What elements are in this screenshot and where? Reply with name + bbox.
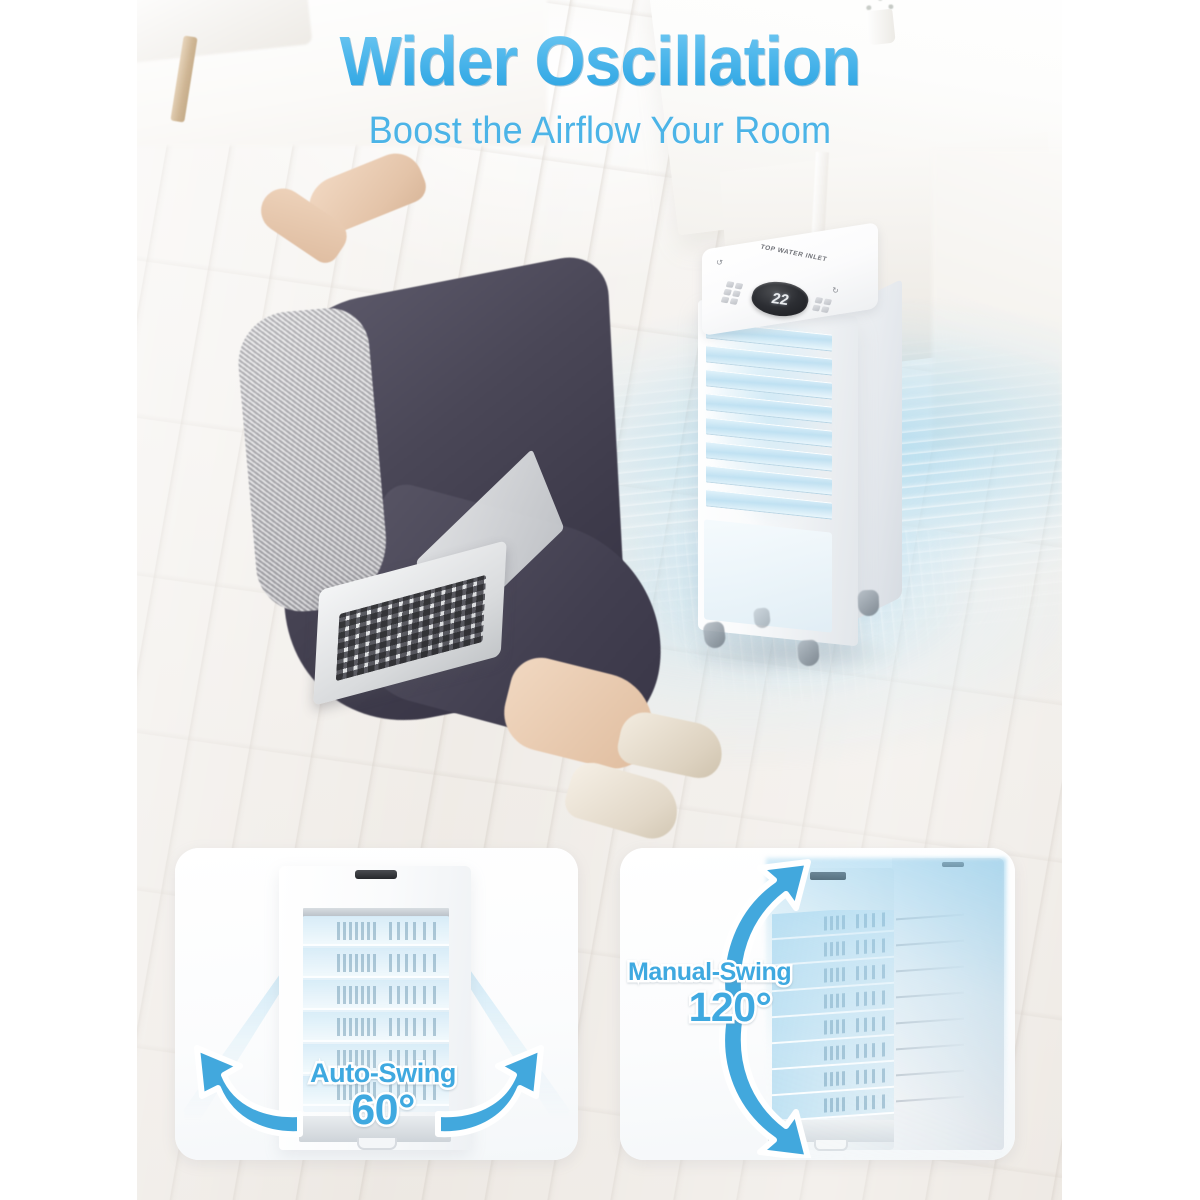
louver-row [303, 948, 449, 978]
callout-label: Manual-Swing [628, 960, 858, 986]
control-button[interactable] [723, 289, 732, 296]
callout-degrees: 120° [628, 987, 858, 1029]
control-button[interactable] [721, 296, 730, 303]
cooler-base-notch [357, 1138, 397, 1150]
wall-right [932, 150, 1062, 450]
page-subtitle: Boost the Airflow Your Room [30, 110, 1170, 153]
control-button[interactable] [814, 297, 823, 304]
page-title: Wider Oscillation [36, 26, 1164, 96]
louver-slat [706, 489, 832, 519]
cooler-base [768, 1120, 894, 1142]
caster-wheel [858, 590, 880, 617]
woman-reclining-with-laptop [137, 150, 689, 850]
cooler-base-notch [814, 1140, 848, 1151]
louver-row [303, 980, 449, 1010]
louver-row [303, 916, 449, 946]
side-panel-ticks [896, 910, 964, 1122]
callout-manual-swing: Manual-Swing 120° [628, 960, 858, 1028]
callout-degrees: 60° [248, 1089, 518, 1133]
callout-label: Auto-Swing [248, 1060, 518, 1088]
cooler-handle [810, 872, 846, 880]
control-button[interactable] [726, 281, 735, 288]
louver-row [303, 1012, 449, 1042]
swing-icon-left: ↺ [715, 257, 723, 267]
cooler-handle [355, 870, 397, 879]
headline-block: Wider Oscillation Boost the Airflow Your… [0, 26, 1200, 153]
torso [234, 305, 392, 615]
display-value: 22 [769, 290, 790, 309]
louver-stack [706, 321, 832, 530]
caster-wheel [797, 639, 820, 666]
evaporative-air-cooler: TOP WATER INLET ↺ ↻ 22 [690, 236, 910, 686]
callout-auto-swing: Auto-Swing 60° [248, 1060, 518, 1132]
product-feature-image: TOP WATER INLET ↺ ↻ 22 Wider [0, 0, 1200, 1200]
cooler-handle-rear [942, 862, 964, 867]
control-button[interactable] [812, 305, 821, 312]
